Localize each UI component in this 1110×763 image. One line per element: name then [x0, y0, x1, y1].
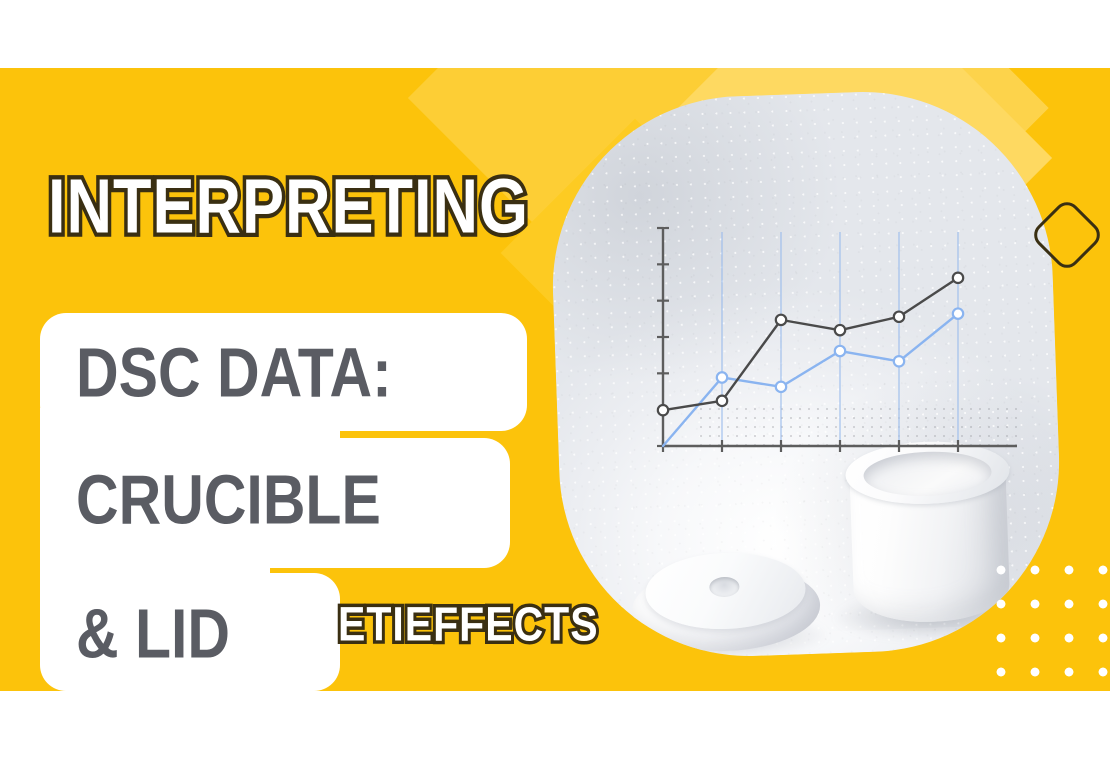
- line-chart: [645, 218, 1025, 463]
- title-line-crucible: CRUCIBLE: [76, 460, 381, 540]
- title-line-dsc-data: DSC DATA:: [76, 333, 392, 413]
- chart-canvas: [645, 218, 1025, 463]
- title-line-interpreting: INTERPRETING: [48, 163, 529, 251]
- banner-canvas: INTERPRETING DSC DATA: CRUCIBLE & LID ET…: [0, 0, 1110, 763]
- lid-object: [630, 546, 822, 663]
- dot-grid-decoration: [974, 543, 1110, 691]
- title-line-etieffects: ETIEFFECTS: [338, 597, 599, 652]
- title-block: INTERPRETING DSC DATA: CRUCIBLE & LID ET…: [0, 68, 600, 691]
- yellow-banner: INTERPRETING DSC DATA: CRUCIBLE & LID ET…: [0, 68, 1110, 691]
- title-line-lid: & LID: [76, 594, 230, 674]
